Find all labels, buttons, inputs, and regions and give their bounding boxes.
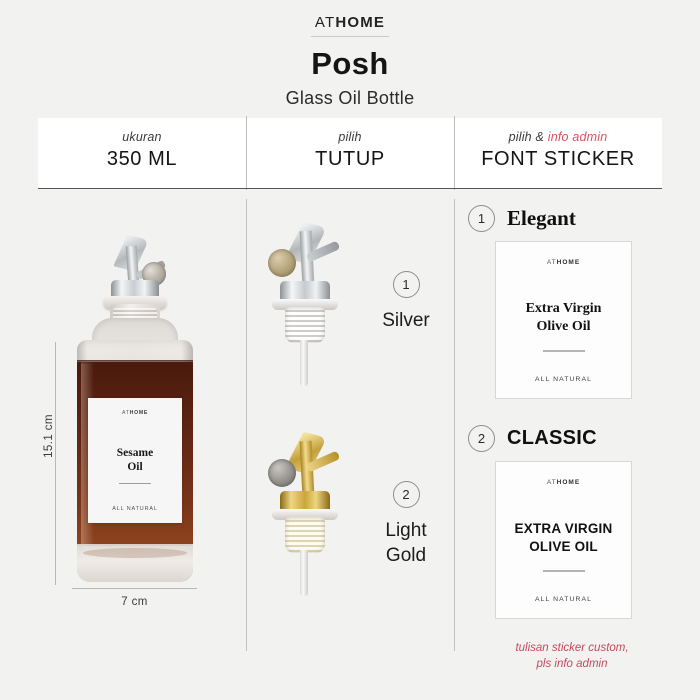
column-divider-2 (454, 199, 455, 651)
column-divider-1 (246, 199, 247, 651)
sticker-logo-light: AT (547, 259, 557, 266)
font-option-elegant[interactable]: 1 Elegant ATHOME Extra VirginOlive Oil A… (468, 203, 662, 233)
bottle-label-name-line1: Sesame (117, 447, 153, 459)
page-subtitle: Glass Oil Bottle (0, 88, 700, 109)
cap-label-line2: Gold (386, 545, 426, 566)
product-infographic: ATHOME Posh Glass Oil Bottle ukuran 350 … (0, 0, 700, 700)
header: ATHOME Posh Glass Oil Bottle (0, 0, 700, 118)
sticker-footer: ALL NATURAL (496, 376, 631, 383)
custom-sticker-note: tulisan sticker custom, pls info admin (462, 640, 682, 672)
sticker-preview-classic: ATHOME EXTRA VIRGINOLIVE OIL ALL NATURAL (495, 461, 632, 619)
gold-pourer-illustration (254, 435, 358, 595)
column-title-font: FONT STICKER (454, 148, 662, 171)
column-eyebrow-font-accent: info admin (548, 130, 608, 144)
cap-option-light-gold-number: 2 (393, 481, 420, 508)
brand-logo-light: AT (315, 14, 335, 31)
bottle-label-logo-bold: HOME (130, 410, 148, 416)
sticker-text-line1: Extra Virgin (526, 301, 602, 316)
pourer-weight-disc-icon (268, 249, 296, 277)
silver-pourer-illustration (254, 225, 358, 385)
column-eyebrow-font-plain: pilih & (509, 130, 548, 144)
sticker-preview-elegant: ATHOME Extra VirginOlive Oil ALL NATURAL (495, 241, 632, 399)
font-option-classic-head: 2 CLASSIC (468, 423, 662, 453)
height-measurement-label: 15.1 cm (43, 401, 55, 471)
cap-option-light-gold-meta: 2 LightGold (364, 481, 448, 568)
bottle-label-name: SesameOil (88, 446, 182, 474)
sticker-text-line1: EXTRA VIRGIN (515, 521, 613, 536)
font-option-classic-label: CLASSIC (507, 427, 597, 450)
bottle-label-name-line2: Oil (127, 461, 142, 473)
custom-sticker-note-line1: tulisan sticker custom, (515, 642, 628, 654)
column-header-cap: pilih TUTUP (246, 118, 454, 188)
cap-option-light-gold-label: LightGold (364, 518, 448, 568)
bottle-label-divider (119, 483, 151, 484)
pourer-spout-icon (300, 550, 308, 596)
cap-option-silver-number: 1 (393, 271, 420, 298)
bottle-label-logo-light: AT (122, 410, 130, 416)
cap-label-line1: Light (385, 520, 426, 541)
bottle-oil-surface (77, 360, 193, 364)
pourer-cork-icon (285, 307, 325, 343)
sticker-divider (543, 350, 585, 352)
brand-logo-bold: HOME (335, 14, 385, 31)
sticker-divider (543, 570, 585, 572)
sticker-logo-bold: HOME (557, 479, 581, 486)
brand-logo: ATHOME (0, 14, 700, 37)
column-eyebrow-cap: pilih (246, 130, 454, 144)
bottle-label-footer: ALL NATURAL (88, 506, 182, 512)
font-option-classic-number: 2 (468, 425, 495, 452)
bottle-illustration: ATHOME SesameOil ALL NATURAL (70, 252, 200, 582)
bottle-label: ATHOME SesameOil ALL NATURAL (88, 398, 182, 523)
column-font-sticker: 1 Elegant ATHOME Extra VirginOlive Oil A… (454, 189, 662, 669)
column-title-size: 350 ML (38, 148, 246, 171)
bottle-base (77, 544, 193, 582)
width-measurement-label: 7 cm (72, 596, 197, 608)
sticker-logo-bold: HOME (557, 259, 581, 266)
column-cap: 1 Silver 2 LightGold (246, 189, 454, 669)
font-option-classic[interactable]: 2 CLASSIC ATHOME EXTRA VIRGINOLIVE OIL A… (468, 423, 662, 453)
sticker-logo: ATHOME (496, 259, 631, 266)
sticker-text: EXTRA VIRGINOLIVE OIL (496, 520, 631, 556)
column-eyebrow-font: pilih & info admin (454, 130, 662, 144)
sticker-footer: ALL NATURAL (496, 596, 631, 603)
cap-option-silver-label: Silver (364, 308, 448, 333)
column-title-cap: TUTUP (246, 148, 454, 171)
sticker-logo: ATHOME (496, 479, 631, 486)
pourer-cork-icon (285, 517, 325, 553)
logo-divider (311, 36, 389, 37)
page-title: Posh (0, 46, 700, 82)
pourer-weight-disc-icon (268, 459, 296, 487)
pourer-spout-icon (300, 340, 308, 386)
width-guide-line (72, 588, 197, 589)
sticker-text-line2: Olive Oil (536, 319, 590, 334)
font-option-elegant-label: Elegant (507, 206, 576, 231)
column-eyebrow-size: ukuran (38, 130, 246, 144)
font-option-elegant-head: 1 Elegant (468, 203, 662, 233)
column-header-band: ukuran 350 ML pilih TUTUP pilih & info a… (38, 118, 662, 188)
bottle-label-logo: ATHOME (88, 410, 182, 416)
column-header-font: pilih & info admin FONT STICKER (454, 118, 662, 188)
custom-sticker-note-line2: pls info admin (537, 658, 608, 670)
font-option-elegant-number: 1 (468, 205, 495, 232)
column-header-size: ukuran 350 ML (38, 118, 246, 188)
height-guide-line (55, 342, 56, 585)
sticker-text: Extra VirginOlive Oil (496, 300, 631, 336)
cap-option-silver-meta: 1 Silver (364, 271, 448, 333)
sticker-text-line2: OLIVE OIL (529, 539, 598, 554)
sticker-logo-light: AT (547, 479, 557, 486)
